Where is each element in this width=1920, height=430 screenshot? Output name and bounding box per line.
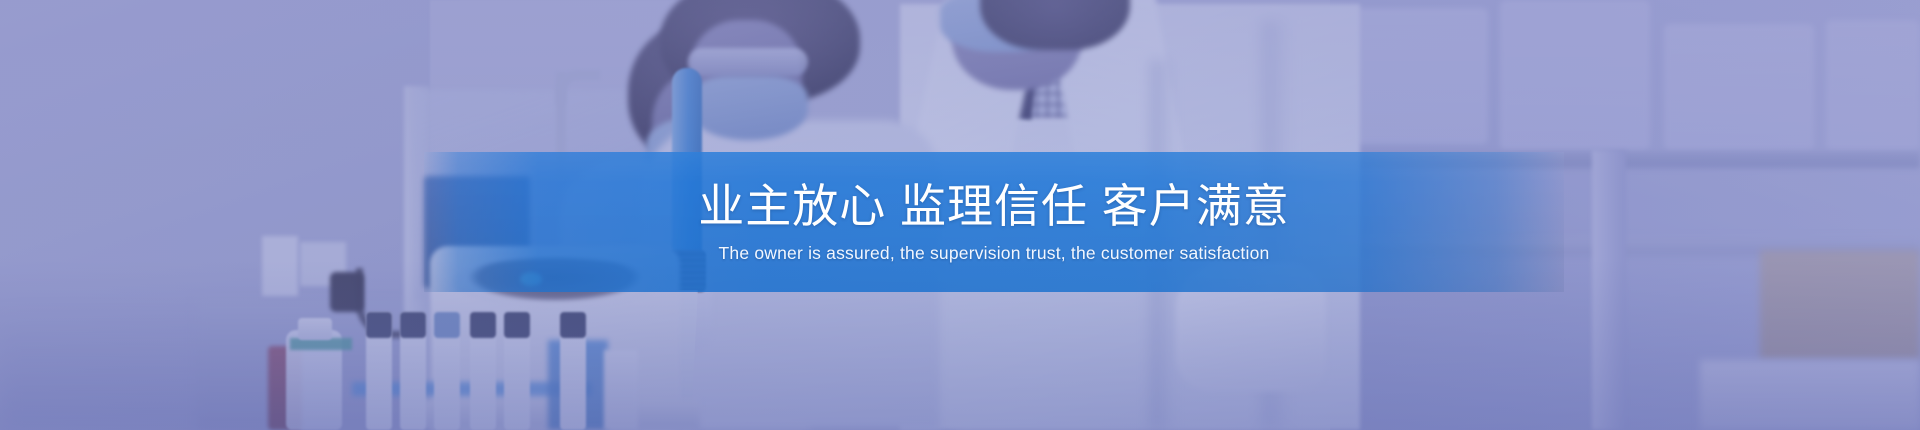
hero-banner: 业主放心 监理信任 客户满意 The owner is assured, the…: [0, 0, 1920, 430]
headline-band-sheen: [424, 152, 1564, 292]
headline-band: [424, 152, 1564, 292]
